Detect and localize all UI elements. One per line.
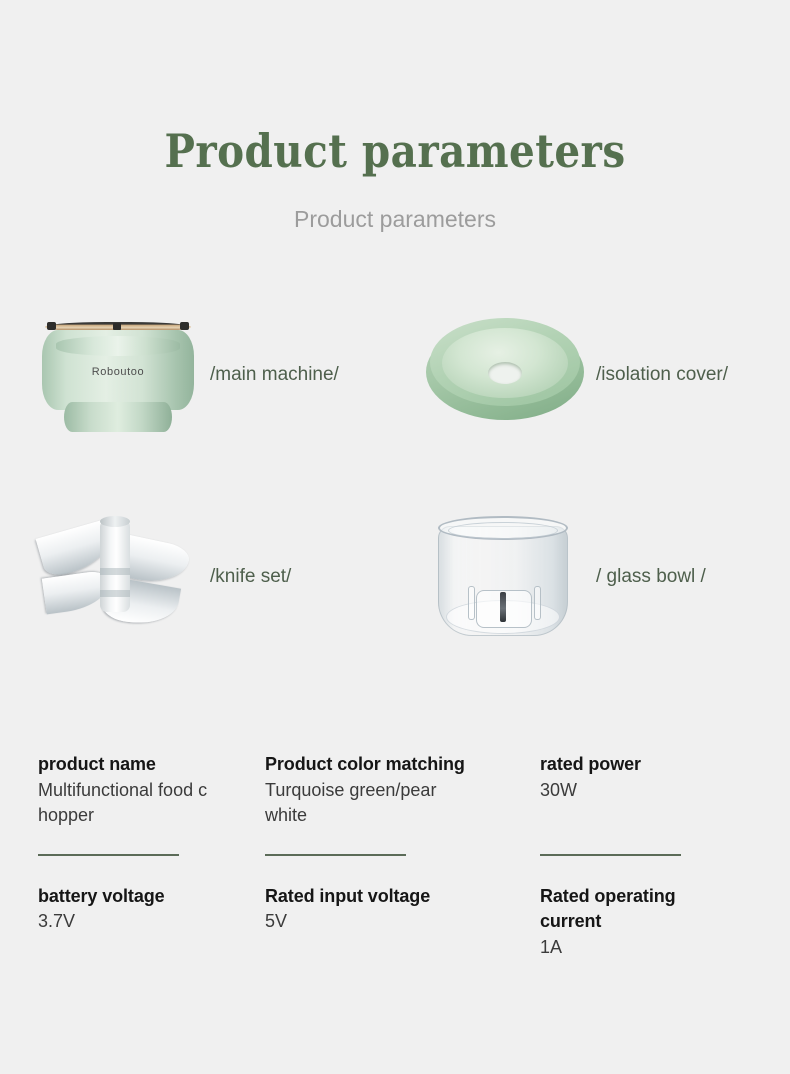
- main-machine-illustration: Roboutoo: [42, 322, 194, 438]
- machine-brand-text: Roboutoo: [42, 366, 194, 378]
- divider-line: [38, 854, 179, 856]
- bowl-drive-spindle: [500, 592, 506, 622]
- parts-gallery: Roboutoo /main machine/ /isolation cover…: [0, 300, 790, 652]
- machine-power-button-icon: [113, 323, 121, 330]
- parts-row-top: Roboutoo /main machine/ /isolation cover…: [0, 300, 790, 450]
- spec-label: product name: [38, 752, 265, 778]
- spec-divider-row: [0, 829, 790, 884]
- page-header: Product parameters Product parameters: [0, 0, 790, 233]
- bowl-prong-right: [534, 586, 541, 620]
- part-label-main-machine: /main machine/: [210, 364, 339, 386]
- spec-value: 30W: [540, 778, 715, 804]
- spec-label: battery voltage: [38, 884, 265, 910]
- isolation-cover-image: [420, 300, 590, 450]
- spec-cell-rated-input-voltage: Rated input voltage 5V: [265, 884, 540, 961]
- main-machine-image: Roboutoo: [34, 300, 204, 450]
- spec-cell-product-name: product name Multifunctional food choppe…: [0, 752, 265, 829]
- spec-row-2: battery voltage 3.7V Rated input voltage…: [0, 884, 790, 961]
- spec-value: Turquoise green/pear white: [265, 778, 440, 829]
- knife-hub-ring-lower: [100, 590, 130, 597]
- part-knife-set: /knife set/: [0, 502, 400, 652]
- spec-row-1: product name Multifunctional food choppe…: [0, 752, 790, 829]
- knife-set-illustration: [46, 510, 186, 650]
- spec-value: Multifunctional food chopper: [38, 778, 213, 829]
- cover-center-hole: [488, 362, 522, 384]
- part-glass-bowl: / glass bowl /: [400, 502, 790, 652]
- part-label-isolation-cover: /isolation cover/: [596, 364, 728, 386]
- part-main-machine: Roboutoo /main machine/: [0, 300, 400, 450]
- spec-label: Rated input voltage: [265, 884, 540, 910]
- glass-bowl-illustration: [438, 514, 568, 644]
- spec-label: rated power: [540, 752, 790, 778]
- spec-value: 5V: [265, 909, 440, 935]
- divider-line: [540, 854, 681, 856]
- divider-cell-3: [540, 854, 790, 856]
- page-title: Product parameters: [47, 126, 742, 177]
- spec-value: 3.7V: [38, 909, 213, 935]
- page-subtitle: Product parameters: [0, 177, 790, 233]
- knife-hub: [100, 520, 130, 612]
- part-label-glass-bowl: / glass bowl /: [596, 566, 706, 588]
- divider-cell-2: [265, 854, 540, 856]
- part-label-knife-set: /knife set/: [210, 566, 291, 588]
- bowl-prong-left: [468, 586, 475, 620]
- knife-set-image: [34, 502, 204, 652]
- spec-cell-rated-power: rated power 30W: [540, 752, 790, 829]
- isolation-cover-illustration: [426, 316, 584, 434]
- divider-cell-1: [0, 854, 265, 856]
- spec-label: Product color matching: [265, 752, 540, 778]
- spec-cell-battery-voltage: battery voltage 3.7V: [0, 884, 265, 961]
- spec-table: product name Multifunctional food choppe…: [0, 752, 790, 960]
- machine-upper-bevel: [56, 336, 180, 356]
- divider-line: [265, 854, 406, 856]
- spec-cell-rated-operating-current: Rated operating current 1A: [540, 884, 790, 961]
- knife-hub-ring-upper: [100, 568, 130, 575]
- parts-row-bottom: /knife set/ / glass bowl /: [0, 502, 790, 652]
- spec-value: 1A: [540, 935, 715, 961]
- part-isolation-cover: /isolation cover/: [400, 300, 790, 450]
- spec-cell-color-matching: Product color matching Turquoise green/p…: [265, 752, 540, 829]
- spec-label: Rated operating current: [540, 884, 690, 935]
- knife-hub-top: [100, 516, 130, 527]
- machine-base: [64, 402, 172, 432]
- bowl-inner-rim: [448, 522, 558, 539]
- glass-bowl-image: [420, 502, 590, 652]
